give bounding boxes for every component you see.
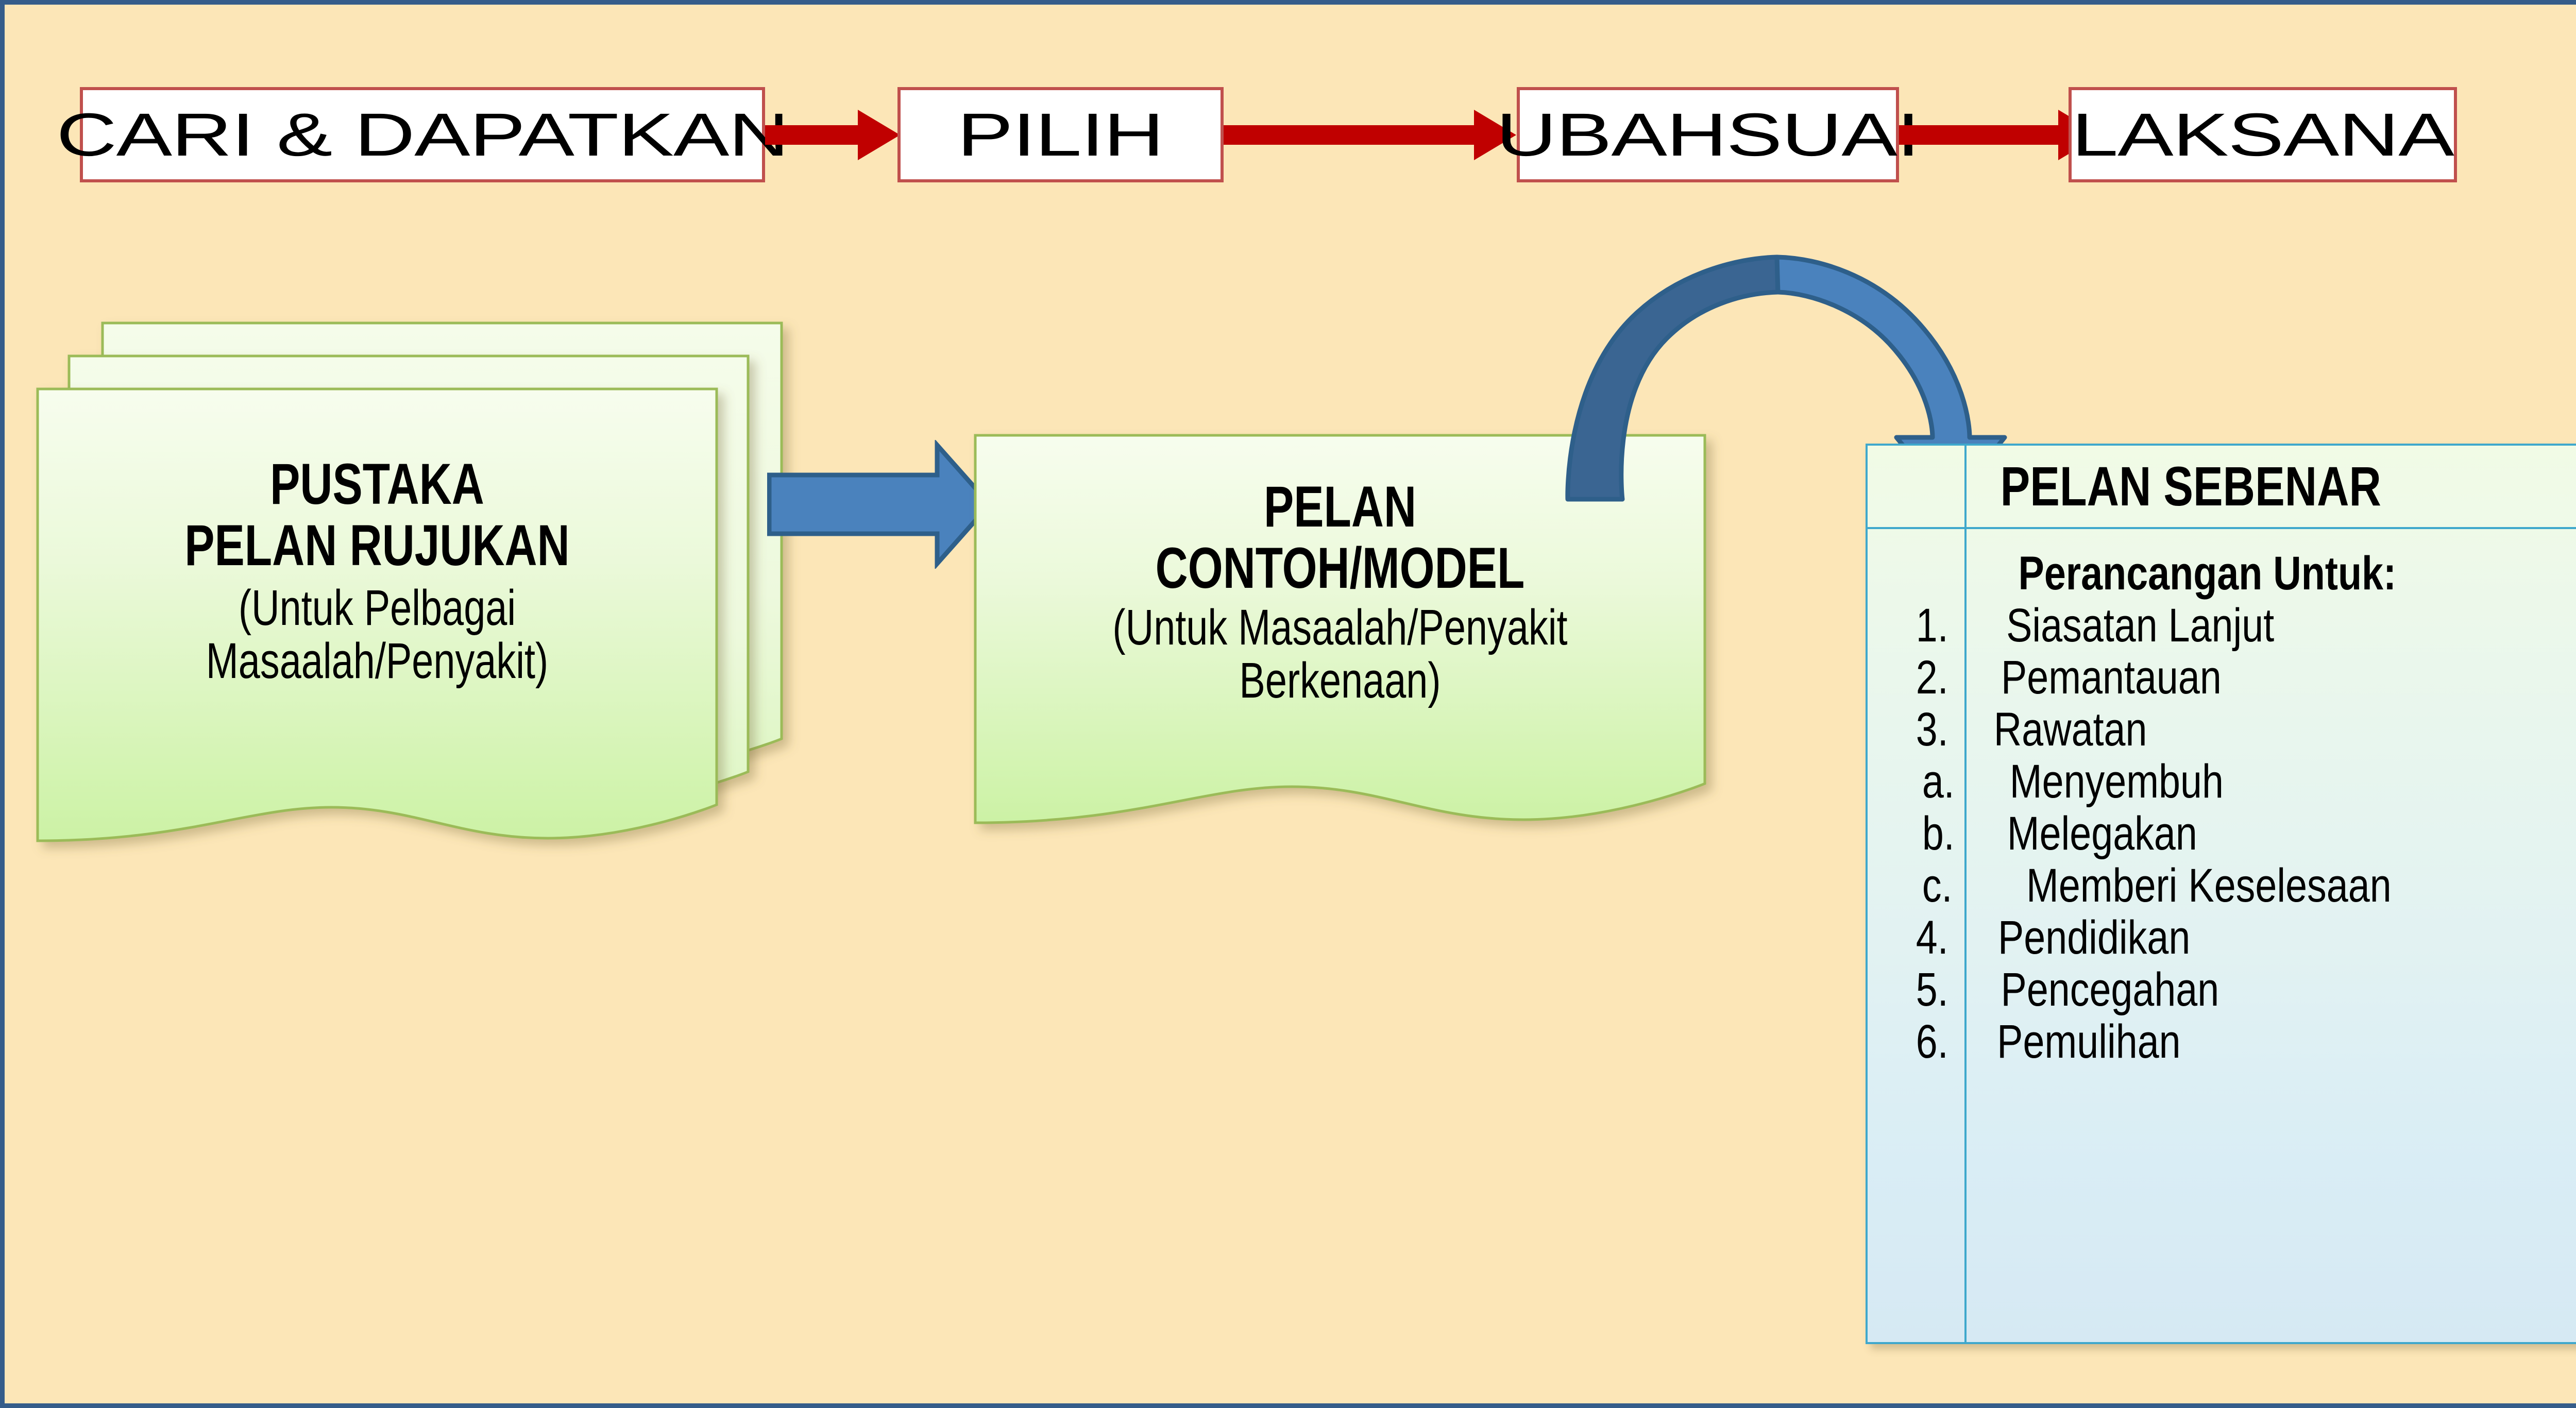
list-subitem-marker: b. — [1876, 807, 1957, 861]
flow-step-cari-dapatkan[interactable]: CARI & DAPATKAN — [80, 87, 765, 182]
list-item-label: Rawatan — [1985, 703, 2147, 757]
flow-step-pilih[interactable]: PILIH — [897, 87, 1224, 182]
actual-plan-list: Perancangan Untuk: 1. Siasatan Lanjut 2.… — [1868, 529, 2576, 1067]
flow-connector-1-icon — [765, 106, 903, 165]
list-item-marker: 4. — [1876, 911, 1957, 965]
list-item-label: Pemulihan — [1988, 1015, 2181, 1069]
list-item-marker: 6. — [1876, 1015, 1957, 1069]
list-subitem-marker: a. — [1876, 755, 1957, 809]
list-item-label: Siasatan Lanjut — [1997, 599, 2274, 653]
list-subitem[interactable]: b. Melegakan — [1868, 807, 2576, 859]
list-subitem-label: Menyembuh — [1992, 755, 2224, 809]
arrow-library-to-model-icon — [767, 440, 994, 569]
actual-plan-table-header-row: PELAN SEBENAR — [1868, 446, 2576, 529]
library-card-title: PUSTAKA PELAN RUJUKAN — [112, 454, 642, 576]
list-item-marker: 5. — [1876, 963, 1957, 1017]
flow-step-ubahsuai[interactable]: UBAHSUAI — [1517, 87, 1899, 182]
header-title-cell: PELAN SEBENAR — [1967, 446, 2576, 527]
list-item-marker: 1. — [1876, 599, 1957, 653]
slide-canvas: CARI & DAPATKAN PILIH UBAHSUAI LAKSANA — [0, 0, 2576, 1408]
list-item-label: Pencegahan — [1991, 963, 2219, 1017]
model-card-subtitle: (Untuk Masaalah/Penyakit Berkenaan) — [1056, 601, 1624, 707]
list-item[interactable]: 6. Pemulihan — [1868, 1015, 2576, 1067]
list-subitem[interactable]: c. Memberi Keselesaan — [1868, 859, 2576, 911]
actual-plan-title: PELAN SEBENAR — [1967, 446, 2519, 527]
list-subitem-label: Melegakan — [1989, 807, 2197, 861]
library-card-subtitle: (Untuk Pelbagai Masaalah/Penyakit) — [112, 582, 642, 688]
list-intro-label: Perancangan Untuk: — [2009, 547, 2396, 601]
list-item-label: Pendidikan — [1989, 911, 2190, 965]
flow-step-laksana[interactable]: LAKSANA — [2069, 87, 2457, 182]
actual-plan-table[interactable]: PELAN SEBENAR Perancangan Untuk: 1. Sias… — [1866, 444, 2576, 1344]
flow-step-label: PILIH — [957, 105, 1163, 165]
flow-step-label: CARI & DAPATKAN — [56, 105, 788, 165]
list-item-marker: 3. — [1876, 703, 1957, 757]
list-item-marker: 2. — [1876, 651, 1957, 705]
list-subitem-marker: c. — [1876, 859, 1957, 913]
list-item[interactable]: 5. Pencegahan — [1868, 963, 2576, 1015]
flow-connector-2-icon — [1224, 106, 1519, 165]
list-intro-row: Perancangan Untuk: — [1868, 547, 2576, 599]
library-plan-card-stack[interactable]: PUSTAKA PELAN RUJUKAN (Untuk Pelbagai Ma… — [36, 319, 860, 886]
list-item[interactable]: 2. Pemantauan — [1868, 651, 2576, 703]
flow-step-label: LAKSANA — [2072, 105, 2454, 165]
list-item-label: Pemantauan — [1992, 651, 2222, 705]
flow-step-label: UBAHSUAI — [1496, 105, 1919, 165]
list-subitem[interactable]: a. Menyembuh — [1868, 755, 2576, 807]
list-item[interactable]: 3. Rawatan — [1868, 703, 2576, 755]
list-item[interactable]: 1. Siasatan Lanjut — [1868, 599, 2576, 651]
list-subitem-label: Memberi Keselesaan — [2009, 859, 2392, 913]
list-item[interactable]: 4. Pendidikan — [1868, 911, 2576, 963]
header-number-cell — [1868, 446, 1967, 527]
